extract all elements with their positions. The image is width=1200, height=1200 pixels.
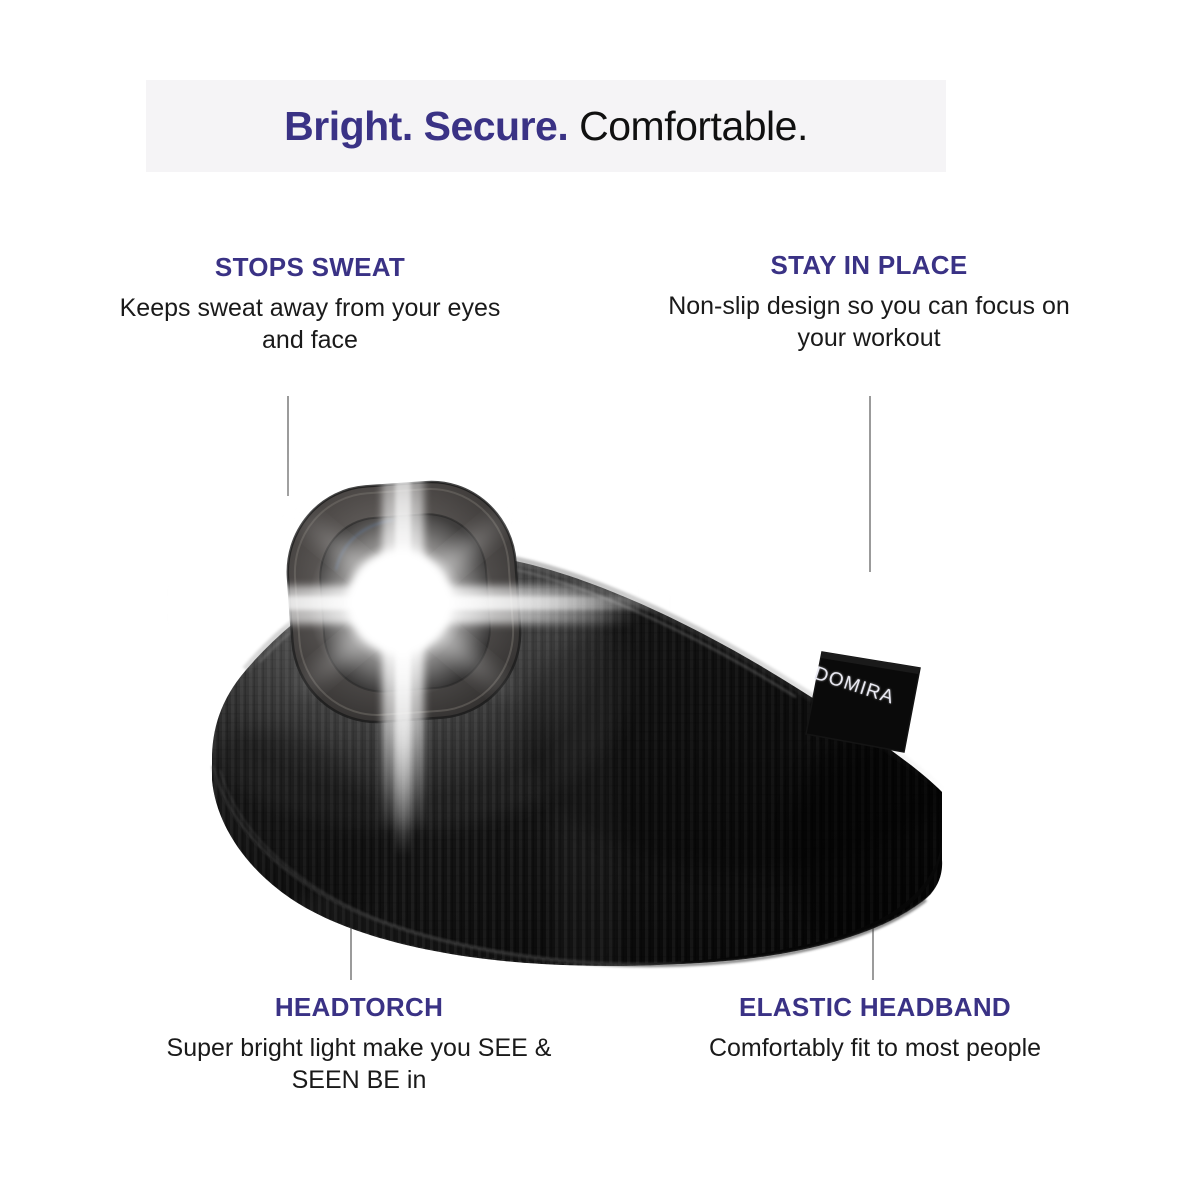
feature-title-headtorch: HEADTORCH (157, 992, 561, 1023)
feature-description-stops-sweat: Keeps sweat away from your eyes and face (103, 292, 517, 356)
feature-callout-elastic-headband: ELASTIC HEADBAND Comfortably fit to most… (668, 992, 1082, 1064)
feature-title-stay-in-place: STAY IN PLACE (662, 250, 1076, 281)
page-title-highlight: Bright. Secure. (284, 103, 568, 149)
feature-callout-stops-sweat: STOPS SWEAT Keeps sweat away from your e… (103, 252, 517, 356)
page-title: Bright. Secure. Comfortable. (284, 106, 808, 147)
brand-tag (806, 652, 920, 752)
feature-description-headtorch: Super bright light make you SEE & SEEN B… (157, 1032, 561, 1096)
feature-title-stops-sweat: STOPS SWEAT (103, 252, 517, 283)
page-title-normal: Comfortable. (568, 103, 808, 149)
feature-description-elastic-headband: Comfortably fit to most people (668, 1032, 1082, 1064)
product-image-led-headband (150, 430, 1050, 990)
feature-title-elastic-headband: ELASTIC HEADBAND (668, 992, 1082, 1023)
infographic-canvas: Bright. Secure. Comfortable. STOPS SWEAT… (0, 0, 1200, 1200)
header-banner: Bright. Secure. Comfortable. (146, 80, 946, 172)
feature-description-stay-in-place: Non-slip design so you can focus on your… (662, 290, 1076, 354)
feature-callout-stay-in-place: STAY IN PLACE Non-slip design so you can… (662, 250, 1076, 354)
feature-callout-headtorch: HEADTORCH Super bright light make you SE… (157, 992, 561, 1096)
